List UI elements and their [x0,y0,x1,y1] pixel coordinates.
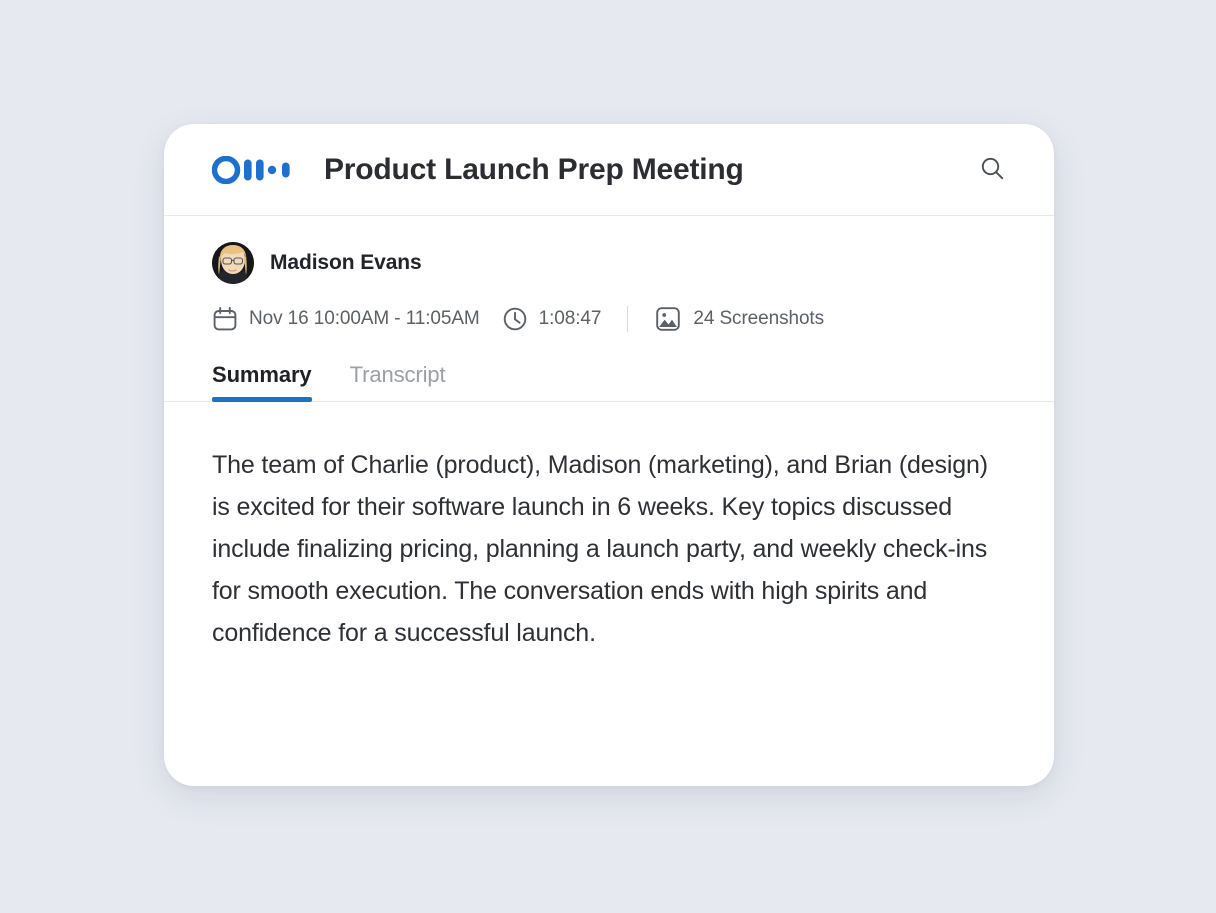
meeting-meta: Madison Evans Nov 16 10:00AM - 11:05AM [164,216,1054,334]
tab-summary[interactable]: Summary [212,362,312,402]
avatar[interactable] [212,242,254,284]
meeting-card: Product Launch Prep Meeting [164,124,1054,786]
tab-transcript[interactable]: Transcript [350,362,446,402]
meeting-duration-label: 1:08:47 [539,308,602,330]
tab-bar: Summary Transcript [164,362,1054,402]
calendar-icon [212,306,238,332]
meeting-screenshots[interactable]: 24 Screenshots [654,305,824,333]
otter-logo[interactable] [212,155,298,185]
info-divider [627,306,628,332]
card-header: Product Launch Prep Meeting [164,124,1054,216]
meeting-date: Nov 16 10:00AM - 11:05AM [212,306,480,332]
search-button[interactable] [972,150,1012,190]
meeting-duration: 1:08:47 [502,306,602,332]
meeting-info-row: Nov 16 10:00AM - 11:05AM 1:08:47 [212,304,1006,334]
speaker-name: Madison Evans [270,251,422,275]
clock-icon [502,306,528,332]
tab-transcript-label: Transcript [350,362,446,387]
search-icon [979,155,1005,184]
page-title: Product Launch Prep Meeting [324,153,972,187]
summary-text: The team of Charlie (product), Madison (… [212,444,992,654]
tab-summary-label: Summary [212,362,312,387]
summary-panel: The team of Charlie (product), Madison (… [164,402,1054,654]
app-root: Product Launch Prep Meeting [0,0,1216,913]
speaker-row: Madison Evans [212,242,1006,284]
meeting-screenshots-label: 24 Screenshots [693,308,824,330]
meeting-date-label: Nov 16 10:00AM - 11:05AM [249,308,480,330]
image-icon [654,305,682,333]
